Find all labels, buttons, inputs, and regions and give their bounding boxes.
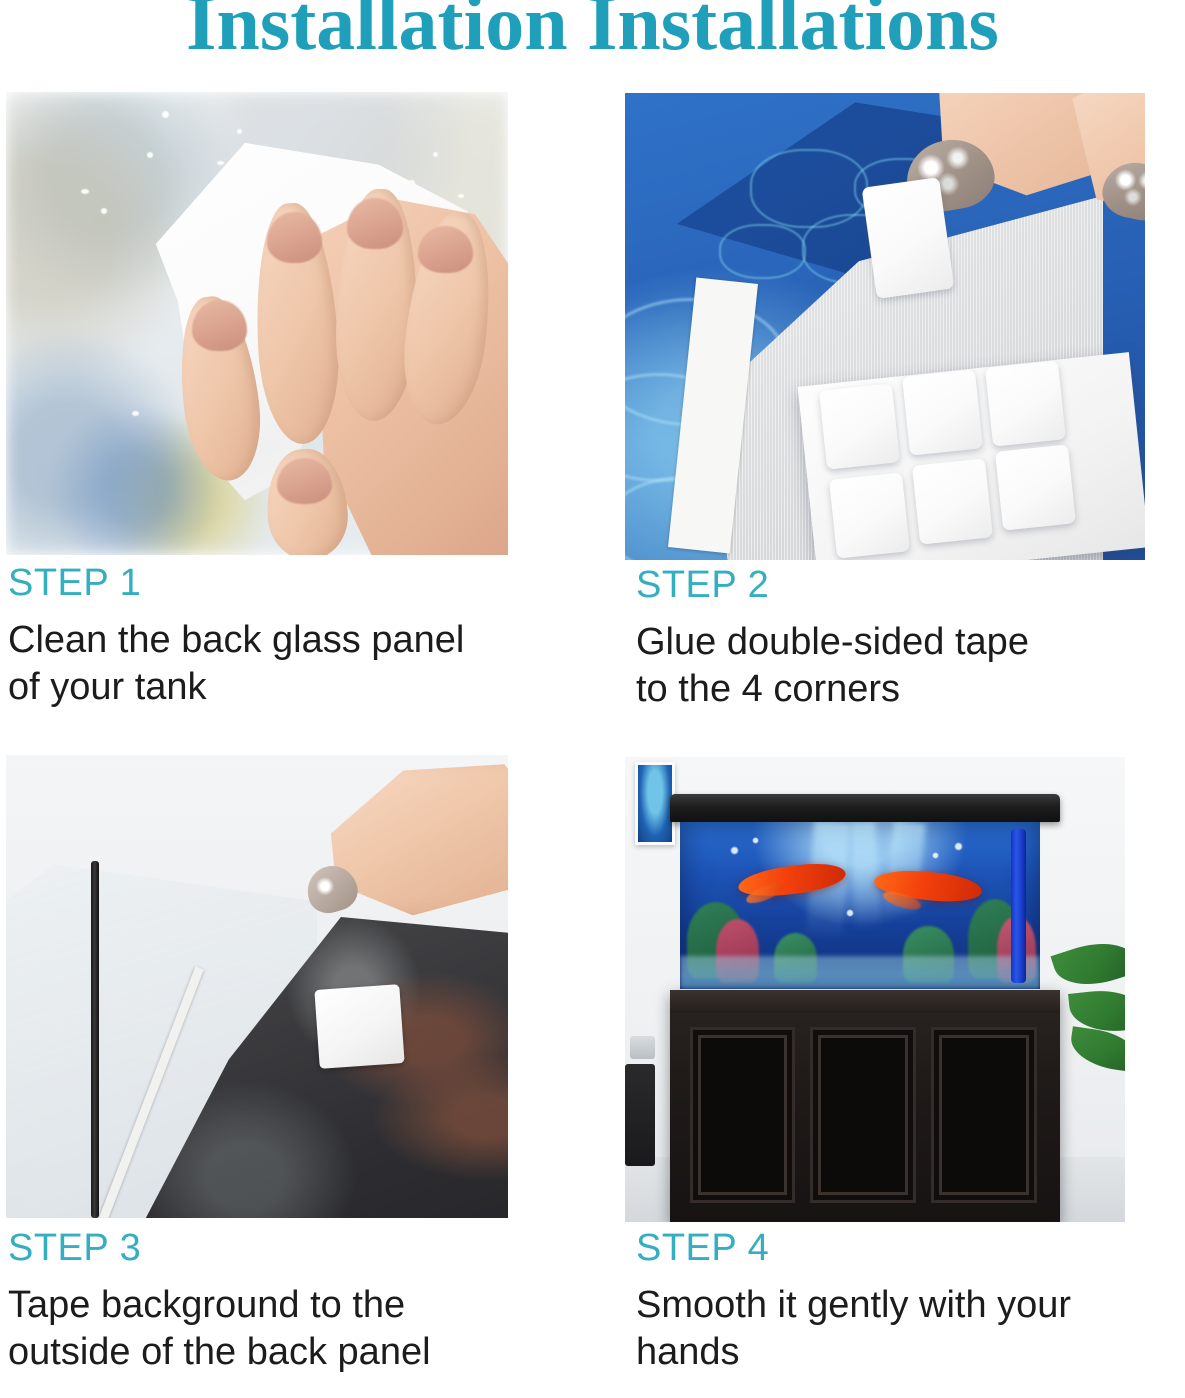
marble-pattern bbox=[719, 224, 806, 279]
fingernail bbox=[192, 300, 247, 351]
adhesive-pad bbox=[995, 444, 1076, 531]
page-title: Installation Installations bbox=[186, 0, 999, 62]
photo-clean-glass bbox=[6, 92, 508, 555]
water-drop bbox=[162, 111, 169, 118]
step-3-caption: STEP 3 Tape background to the outside of… bbox=[8, 1228, 548, 1377]
adhesive-pad bbox=[912, 458, 993, 545]
step-4-image bbox=[625, 757, 1125, 1222]
aquarium-hood bbox=[670, 794, 1060, 822]
step-2-description: Glue double-sided tape to the 4 corners bbox=[636, 619, 1176, 714]
adhesive-pad bbox=[862, 177, 955, 299]
bubble bbox=[954, 842, 963, 851]
water-drop bbox=[458, 194, 464, 198]
fingernail bbox=[267, 212, 322, 263]
water-drop bbox=[237, 129, 242, 134]
wall-picture-image bbox=[638, 765, 672, 843]
water-drop bbox=[147, 152, 153, 158]
step-2-label: STEP 2 bbox=[636, 565, 1176, 607]
photo-finished-aquarium bbox=[625, 757, 1125, 1222]
water-drop bbox=[433, 152, 438, 157]
step-4-label: STEP 4 bbox=[636, 1228, 1176, 1270]
step-4-caption: STEP 4 Smooth it gently with your hands bbox=[636, 1228, 1176, 1377]
step-3-description: Tape background to the outside of the ba… bbox=[8, 1282, 548, 1377]
substrate bbox=[680, 956, 1040, 989]
fingernail bbox=[418, 226, 473, 272]
side-object bbox=[625, 1064, 655, 1166]
photo-tape-background bbox=[6, 755, 508, 1218]
light-ray bbox=[850, 822, 881, 930]
step-2-caption: STEP 2 Glue double-sided tape to the 4 c… bbox=[636, 565, 1176, 714]
step-1-caption: STEP 1 Clean the back glass panel of you… bbox=[8, 563, 548, 712]
bubble bbox=[730, 846, 739, 855]
step-1-label: STEP 1 bbox=[8, 563, 548, 605]
cabinet-door[interactable] bbox=[810, 1027, 915, 1204]
filter-tube bbox=[1011, 829, 1025, 983]
cabinet-door[interactable] bbox=[931, 1027, 1036, 1204]
page-header: Installation Installations bbox=[0, 0, 1185, 92]
step-4-description: Smooth it gently with your hands bbox=[636, 1282, 1176, 1377]
adhesive-pad bbox=[829, 472, 910, 559]
aquarium-tank bbox=[680, 822, 1040, 989]
bubble bbox=[932, 852, 939, 859]
adhesive-pad bbox=[315, 984, 406, 1068]
cabinet-top bbox=[670, 990, 1060, 1013]
step-2-image bbox=[625, 93, 1145, 560]
adhesive-pad bbox=[985, 360, 1066, 447]
photo-apply-tape bbox=[625, 93, 1145, 560]
bubble bbox=[752, 837, 759, 844]
bubble bbox=[846, 909, 854, 917]
adhesive-pad bbox=[819, 384, 900, 471]
cabinet-door[interactable] bbox=[690, 1027, 795, 1204]
step-1-image bbox=[6, 92, 508, 555]
step-3-label: STEP 3 bbox=[8, 1228, 548, 1270]
step-1-description: Clean the back glass panel of your tank bbox=[8, 617, 548, 712]
fingernail bbox=[347, 198, 402, 249]
aquarium-cabinet bbox=[670, 990, 1060, 1223]
tank-corner-trim bbox=[91, 861, 99, 1218]
side-object bbox=[630, 1036, 655, 1059]
adhesive-pad bbox=[902, 370, 983, 457]
wall-picture-frame bbox=[635, 762, 675, 846]
step-3-image bbox=[6, 755, 508, 1218]
